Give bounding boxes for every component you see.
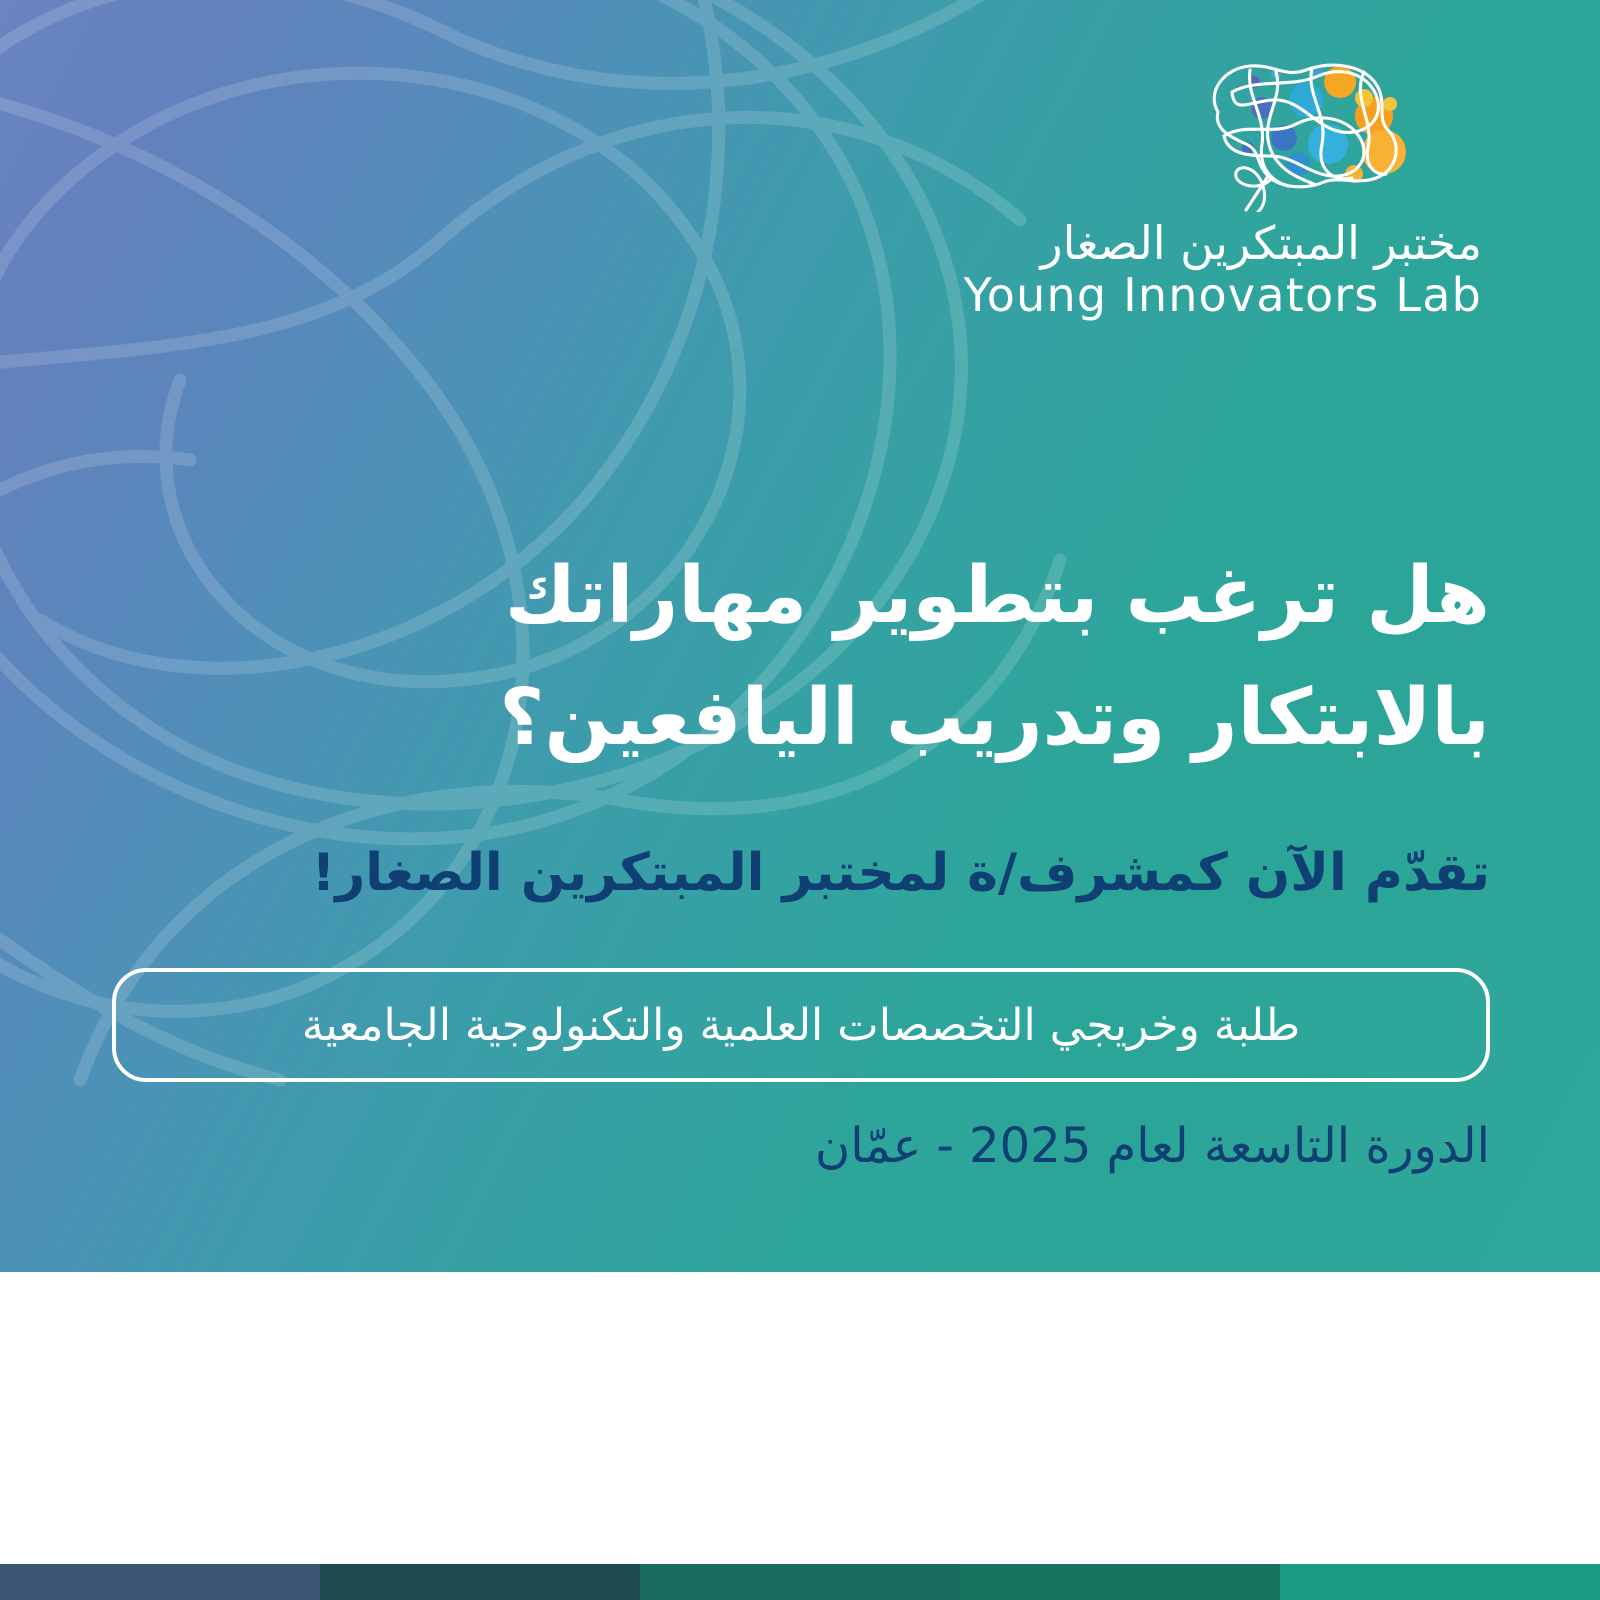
brand-lockup: مختبر المبتكرين الصغار Young Innovators …: [922, 52, 1482, 321]
bottom-color-bar: [0, 1564, 1600, 1600]
brain-scribble-icon: [1188, 52, 1418, 212]
eligibility-text: طلبة وخريجي التخصصات العلمية والتكنولوجي…: [302, 1000, 1300, 1051]
eligibility-pill: طلبة وخريجي التخصصات العلمية والتكنولوجي…: [112, 968, 1490, 1082]
color-bar-segment-3: [640, 1564, 960, 1600]
poster: مختبر المبتكرين الصغار Young Innovators …: [0, 0, 1600, 1600]
color-bar-segment-5: [0, 1564, 320, 1600]
hero-panel: مختبر المبتكرين الصغار Young Innovators …: [0, 0, 1600, 1272]
page-title: هل ترغب بتطوير مهاراتك بالابتكار وتدريب …: [100, 540, 1490, 776]
color-bar-segment-4: [320, 1564, 640, 1600]
color-bar-segment-2: [960, 1564, 1280, 1600]
edition-line: الدورة التاسعة لعام 2025 - عمّان: [100, 1118, 1490, 1174]
color-bar-segment-1: [1280, 1564, 1600, 1600]
brand-name-english: Young Innovators Lab: [922, 270, 1482, 322]
call-to-action-text: تقدّم الآن كمشرف/ة لمختبر المبتكرين الصغ…: [100, 840, 1490, 908]
footer-panel: #المبتكرون_الصغار shomanfdn |: [0, 1272, 1600, 1564]
headline-line-1: هل ترغب بتطوير مهاراتك: [100, 540, 1490, 654]
headline-line-2: بالابتكار وتدريب اليافعين؟: [100, 662, 1490, 776]
brand-name-arabic: مختبر المبتكرين الصغار: [922, 218, 1482, 270]
